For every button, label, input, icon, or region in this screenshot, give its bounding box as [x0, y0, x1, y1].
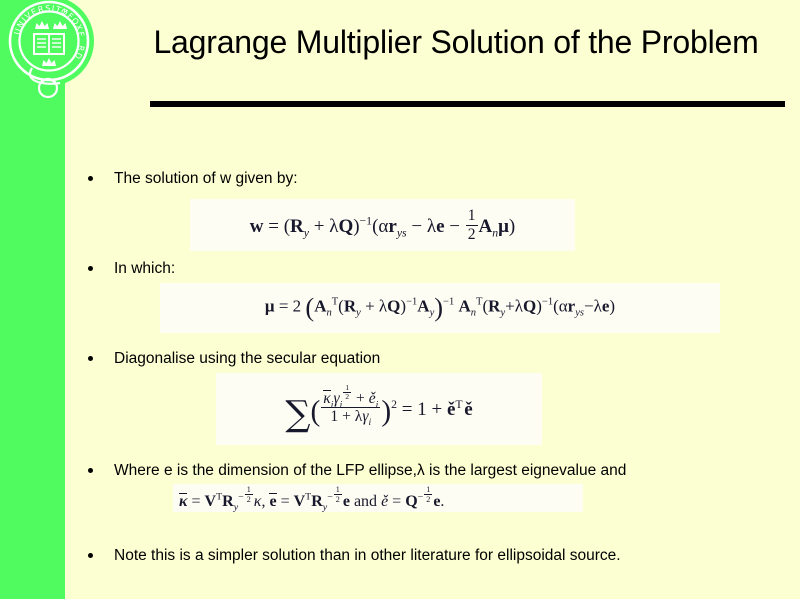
definitions-equation: κ = VTRy−12κ, e = VTRy−12e and ě = Q−12e…	[173, 484, 583, 512]
bullet-text-1: The solution of w given by:	[114, 168, 788, 189]
secular-equation-render: ∑(κiγi12 + ěi1 + λγi)2 = 1 + ěT ě	[285, 384, 472, 435]
bullet-text-3: Diagonalise using the secular equation	[114, 348, 788, 369]
mu-solution-equation: μ = 2 (AnT(Ry + λQ)−1Ay)−1 AnT(Ry+λQ)−1(…	[160, 283, 720, 333]
bullet-item-1: The solution of w given by:	[88, 168, 788, 189]
secular-equation: ∑(κiγi12 + ěi1 + λγi)2 = 1 + ěT ě	[216, 373, 542, 445]
title-underline-rule	[150, 101, 785, 107]
page-title: Lagrange Multiplier Solution of the Prob…	[120, 22, 792, 62]
bullet-marker-icon	[88, 356, 93, 361]
mu-solution-equation-render: μ = 2 (AnT(Ry + λQ)−1Ay)−1 AnT(Ry+λQ)−1(…	[265, 293, 615, 323]
bullet-item-5: Note this is a simpler solution than in …	[88, 545, 708, 566]
bullet-item-4: Where e is the dimension of the LFP elli…	[88, 460, 713, 481]
oxford-university-crest-icon: UNIVERSITY OF OXFO RD	[2, 0, 98, 100]
bullet-item-3: Diagonalise using the secular equation	[88, 348, 788, 369]
title-block: Lagrange Multiplier Solution of the Prob…	[120, 22, 792, 62]
bullet-text-2: In which:	[114, 258, 788, 279]
bullet-text-4: Where e is the dimension of the LFP elli…	[114, 460, 713, 481]
w-solution-equation-render: w = (Ry + λQ)−1(αrys − λe − 12Anμ)	[250, 207, 516, 243]
definitions-equation-render: κ = VTRy−12κ, e = VTRy−12e and ě = Q−12e…	[179, 485, 444, 511]
w-solution-equation: w = (Ry + λQ)−1(αrys − λe − 12Anμ)	[190, 199, 575, 251]
bullet-text-5: Note this is a simpler solution than in …	[114, 545, 708, 566]
bullet-marker-icon	[88, 266, 93, 271]
bullet-item-2: In which:	[88, 258, 788, 279]
bullet-marker-icon	[88, 553, 93, 558]
bullet-marker-icon	[88, 176, 93, 181]
bullet-marker-icon	[88, 468, 93, 473]
